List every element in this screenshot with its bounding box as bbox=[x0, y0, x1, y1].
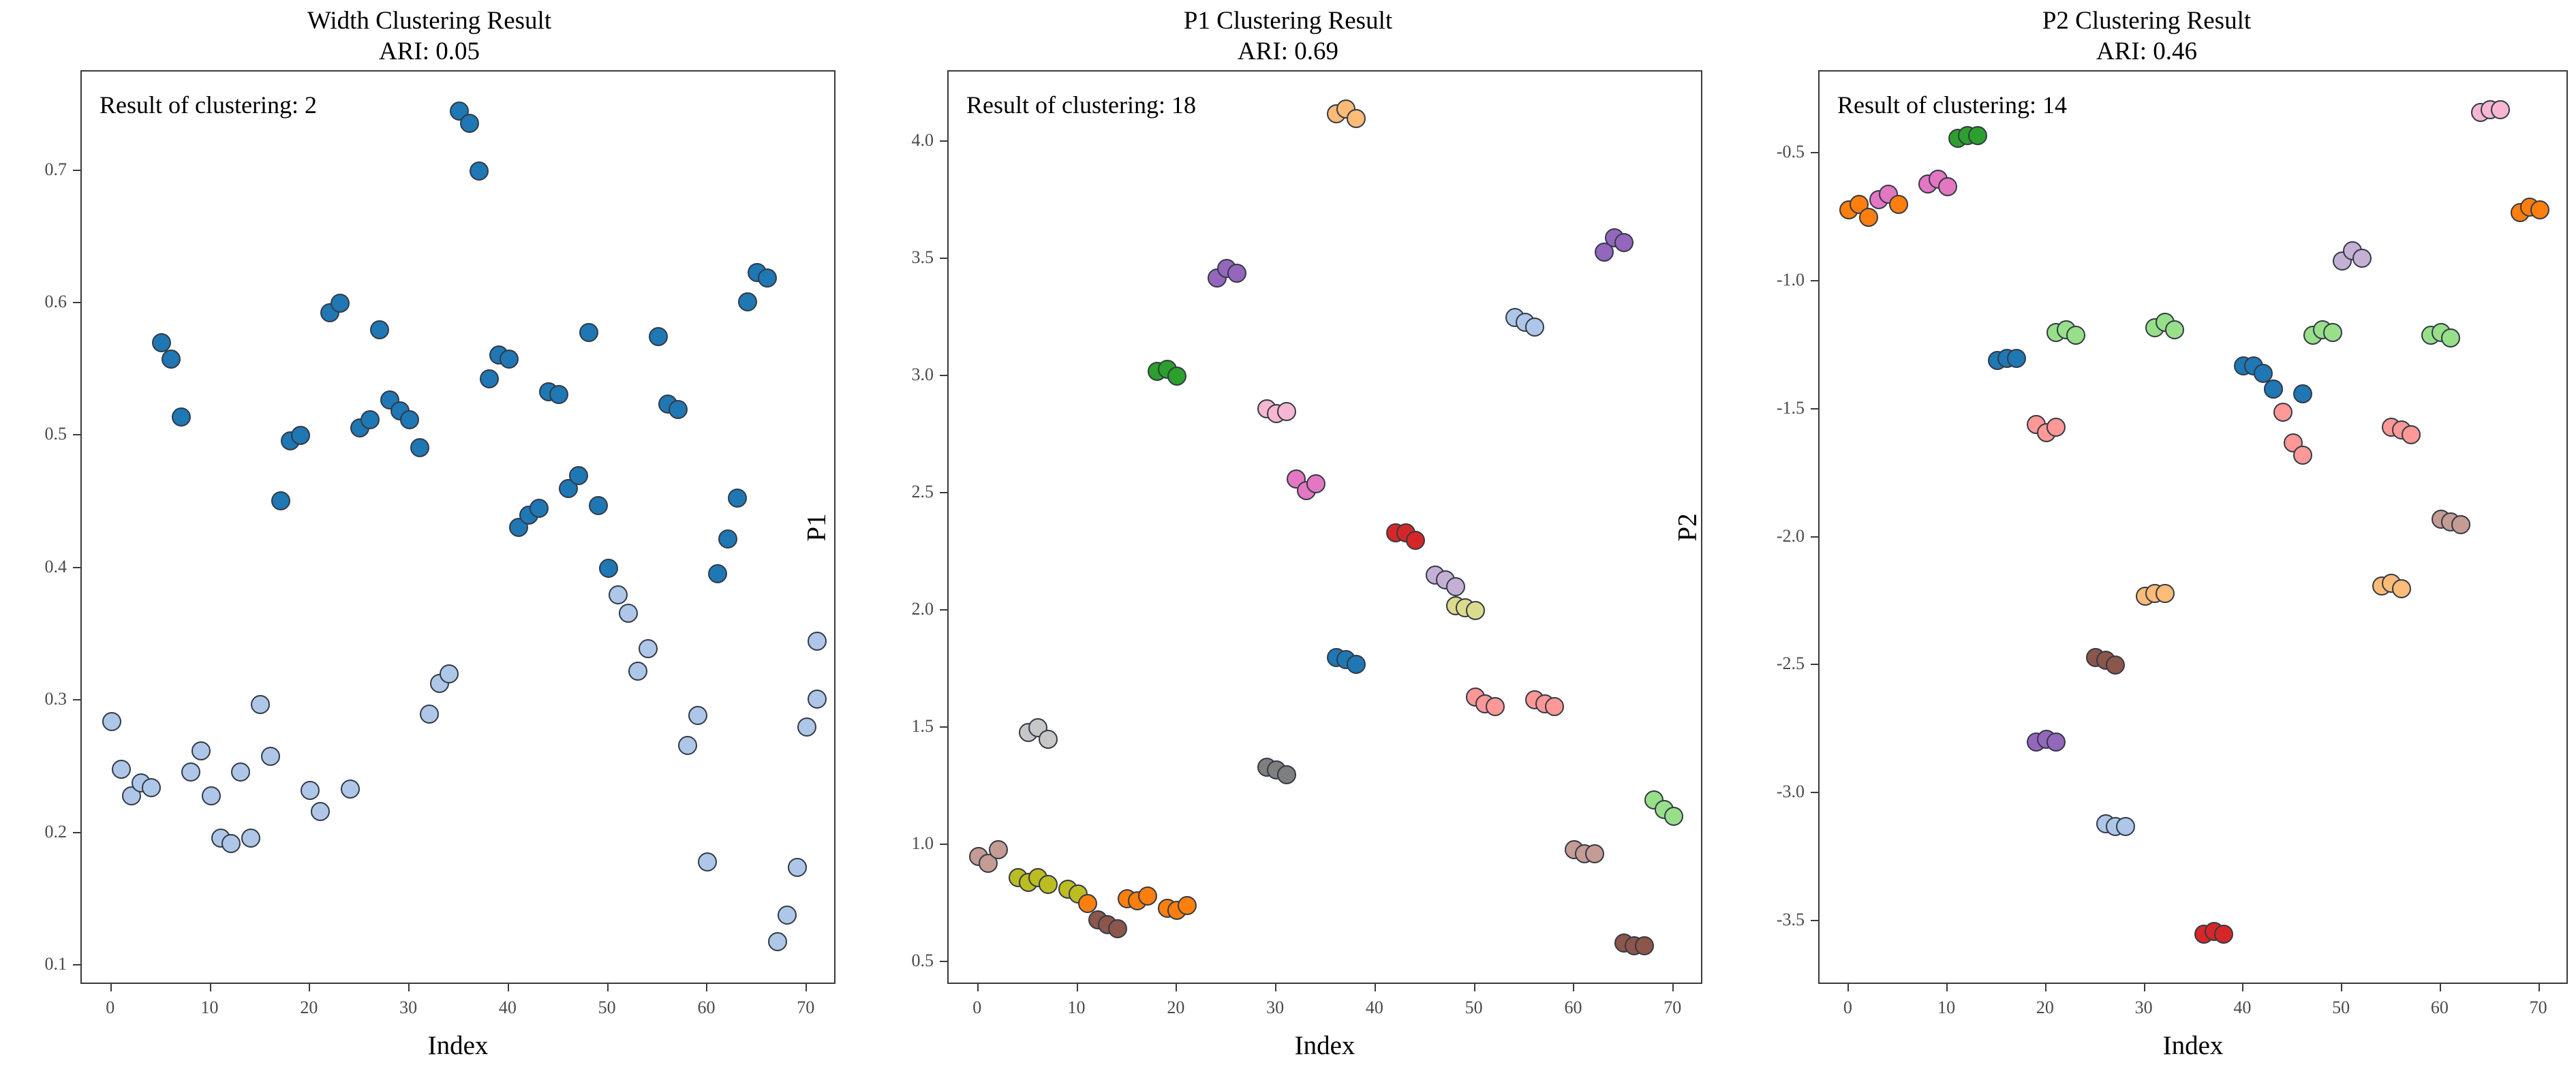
y-tick-mark bbox=[940, 375, 947, 376]
data-point bbox=[1039, 875, 1058, 894]
data-point bbox=[1108, 919, 1127, 938]
x-axis-label: Index bbox=[947, 1030, 1702, 1061]
data-point bbox=[2392, 579, 2411, 598]
plot-area: Result of clustering: 2 bbox=[80, 70, 835, 984]
x-tick-mark bbox=[1474, 984, 1475, 991]
x-tick-label: 50 bbox=[2332, 998, 2350, 1018]
data-point bbox=[579, 323, 598, 342]
x-tick-mark bbox=[806, 984, 807, 991]
y-tick-label: 0.4 bbox=[0, 557, 67, 577]
y-tick-mark bbox=[940, 844, 947, 845]
x-tick-label: 60 bbox=[697, 998, 715, 1018]
x-tick-mark bbox=[706, 984, 707, 991]
y-tick-mark bbox=[940, 609, 947, 611]
data-point bbox=[1545, 697, 1564, 716]
data-point bbox=[172, 407, 191, 427]
y-tick-label: 0.6 bbox=[0, 292, 67, 312]
data-point bbox=[628, 662, 647, 681]
panel-width: Width Clustering ResultARI: 0.05Result o… bbox=[0, 0, 859, 1065]
data-point bbox=[788, 858, 807, 877]
x-tick-mark bbox=[408, 984, 410, 991]
data-point bbox=[708, 564, 727, 583]
panel-ari-label: ARI: 0.69 bbox=[859, 36, 1717, 67]
x-tick-label: 0 bbox=[972, 998, 981, 1018]
data-point bbox=[271, 491, 290, 510]
panel-title-text: P2 Clustering Result bbox=[2042, 7, 2251, 35]
data-point bbox=[1406, 531, 1425, 550]
x-tick-mark bbox=[1176, 984, 1177, 991]
data-point bbox=[500, 350, 519, 369]
data-point bbox=[2214, 925, 2233, 944]
y-tick-label: 3.0 bbox=[855, 365, 934, 385]
data-point bbox=[2323, 323, 2342, 342]
y-tick-mark bbox=[940, 961, 947, 962]
data-point bbox=[718, 529, 737, 549]
panel-ari-label: ARI: 0.46 bbox=[1717, 36, 2576, 67]
data-point bbox=[738, 292, 757, 311]
x-tick-label: 30 bbox=[1266, 998, 1284, 1018]
data-point bbox=[619, 604, 638, 623]
data-point bbox=[698, 852, 717, 871]
data-point bbox=[231, 762, 250, 782]
data-point bbox=[2046, 732, 2066, 752]
y-tick-mark bbox=[1811, 280, 1818, 281]
data-point bbox=[460, 114, 479, 133]
data-point bbox=[112, 760, 131, 779]
data-point bbox=[1938, 177, 1957, 196]
x-tick-label: 30 bbox=[2135, 998, 2153, 1018]
x-tick-label: 60 bbox=[2431, 998, 2449, 1018]
data-point bbox=[609, 585, 628, 604]
data-point bbox=[1859, 208, 1878, 227]
data-point bbox=[768, 932, 787, 951]
data-point bbox=[142, 778, 161, 797]
data-point bbox=[1585, 844, 1604, 863]
x-tick-label: 10 bbox=[1937, 998, 1955, 1018]
data-point bbox=[2046, 418, 2066, 437]
y-tick-mark bbox=[940, 258, 947, 259]
data-point bbox=[420, 705, 439, 724]
data-point bbox=[2264, 380, 2283, 399]
x-axis-label: Index bbox=[80, 1030, 835, 1061]
y-tick-label: 0.3 bbox=[0, 689, 67, 709]
x-tick-label: 20 bbox=[1167, 998, 1184, 1018]
x-tick-mark bbox=[2144, 984, 2145, 991]
data-point bbox=[241, 829, 260, 848]
y-tick-mark bbox=[73, 832, 80, 833]
data-point bbox=[2491, 100, 2510, 119]
cluster-count-annotation: Result of clustering: 2 bbox=[99, 91, 317, 119]
data-point bbox=[410, 438, 429, 457]
y-axis-label: P2 bbox=[1672, 513, 1703, 541]
data-point bbox=[1227, 264, 1246, 283]
x-tick-mark bbox=[2242, 984, 2243, 991]
y-tick-label: 2.0 bbox=[855, 599, 934, 619]
data-point bbox=[2293, 384, 2312, 403]
x-tick-mark bbox=[1375, 984, 1376, 991]
y-tick-mark bbox=[1811, 920, 1818, 921]
data-point bbox=[162, 350, 181, 369]
data-point bbox=[2116, 817, 2135, 836]
clustering-results-figure: Width Clustering ResultARI: 0.05Result o… bbox=[0, 0, 2576, 1065]
y-tick-label: -2.5 bbox=[1726, 653, 1805, 674]
data-point bbox=[1968, 126, 1987, 145]
data-point bbox=[2451, 515, 2470, 534]
y-tick-label: 1.5 bbox=[855, 716, 934, 737]
data-point bbox=[251, 695, 270, 714]
x-tick-mark bbox=[2341, 984, 2342, 991]
y-tick-label: 0.5 bbox=[855, 951, 934, 971]
data-point bbox=[589, 496, 608, 515]
y-tick-mark bbox=[73, 699, 80, 700]
data-point bbox=[2165, 320, 2184, 339]
data-point bbox=[569, 466, 588, 485]
x-tick-label: 20 bbox=[2036, 998, 2054, 1018]
y-tick-label: 0.7 bbox=[0, 159, 67, 180]
x-tick-label: 50 bbox=[1465, 998, 1483, 1018]
data-point bbox=[1466, 601, 1485, 620]
y-tick-mark bbox=[73, 302, 80, 303]
y-tick-label: 1.0 bbox=[855, 833, 934, 854]
panel-p1: P1 Clustering ResultARI: 0.69Result of c… bbox=[859, 0, 1717, 1065]
y-tick-label: 0.2 bbox=[0, 822, 67, 842]
data-point bbox=[480, 369, 499, 388]
x-tick-label: 60 bbox=[1564, 998, 1582, 1018]
cluster-count-annotation: Result of clustering: 18 bbox=[966, 91, 1196, 119]
data-point bbox=[1178, 896, 1197, 915]
data-point bbox=[202, 786, 221, 805]
data-point bbox=[291, 426, 310, 445]
data-point bbox=[1635, 936, 1654, 955]
x-tick-label: 0 bbox=[1843, 998, 1852, 1018]
data-point bbox=[1277, 765, 1296, 784]
data-point bbox=[2530, 200, 2549, 219]
y-tick-mark bbox=[1811, 792, 1818, 793]
panel-title-text: Width Clustering Result bbox=[307, 7, 551, 35]
x-tick-mark bbox=[2539, 984, 2540, 991]
panel-title: P1 Clustering ResultARI: 0.69 bbox=[859, 5, 1717, 67]
data-point bbox=[1446, 577, 1465, 596]
panel-title-text: P1 Clustering Result bbox=[1184, 7, 1392, 35]
x-tick-label: 70 bbox=[1663, 998, 1681, 1018]
y-tick-label: 3.5 bbox=[855, 247, 934, 268]
data-point bbox=[2402, 425, 2421, 444]
x-tick-mark bbox=[210, 984, 211, 991]
data-point bbox=[1889, 195, 1908, 214]
data-point bbox=[261, 747, 280, 766]
data-point bbox=[301, 781, 320, 800]
data-point bbox=[102, 712, 121, 731]
data-point bbox=[1664, 807, 1683, 826]
data-point bbox=[400, 410, 419, 429]
x-tick-mark bbox=[110, 984, 112, 991]
y-tick-label: -2.0 bbox=[1726, 526, 1805, 546]
data-point bbox=[989, 840, 1008, 859]
data-point bbox=[1486, 697, 1505, 716]
data-point bbox=[639, 639, 658, 658]
plot-area: Result of clustering: 14 bbox=[1818, 70, 2568, 984]
data-point bbox=[669, 400, 688, 419]
x-tick-mark bbox=[1672, 984, 1674, 991]
data-point bbox=[808, 632, 827, 651]
data-point bbox=[1277, 402, 1296, 421]
y-tick-label: 4.0 bbox=[855, 130, 934, 151]
data-point bbox=[1167, 367, 1186, 386]
data-point bbox=[649, 327, 668, 346]
data-point bbox=[2007, 349, 2026, 368]
x-tick-label: 40 bbox=[2233, 998, 2251, 1018]
y-tick-label: -3.5 bbox=[1726, 910, 1805, 930]
y-tick-mark bbox=[73, 964, 80, 966]
x-tick-label: 40 bbox=[1366, 998, 1383, 1018]
data-point bbox=[797, 717, 816, 737]
data-point bbox=[370, 320, 389, 339]
x-tick-label: 0 bbox=[106, 998, 114, 1018]
data-point bbox=[2293, 446, 2312, 465]
data-point bbox=[331, 294, 350, 313]
data-point bbox=[1614, 233, 1634, 252]
data-point bbox=[1347, 109, 1366, 128]
y-tick-label: -3.0 bbox=[1726, 782, 1805, 802]
y-tick-mark bbox=[1811, 664, 1818, 665]
x-tick-mark bbox=[508, 984, 509, 991]
y-tick-label: 2.5 bbox=[855, 482, 934, 502]
data-point bbox=[778, 906, 797, 925]
panel-p2: P2 Clustering ResultARI: 0.46Result of c… bbox=[1717, 0, 2576, 1065]
y-tick-mark bbox=[1811, 536, 1818, 538]
x-tick-mark bbox=[1946, 984, 1948, 991]
panel-title: P2 Clustering ResultARI: 0.46 bbox=[1717, 5, 2576, 67]
data-point bbox=[808, 690, 827, 709]
x-tick-label: 10 bbox=[201, 998, 219, 1018]
x-tick-mark bbox=[607, 984, 609, 991]
panel-title: Width Clustering ResultARI: 0.05 bbox=[0, 5, 859, 67]
data-point bbox=[311, 802, 330, 821]
data-point bbox=[1525, 318, 1544, 337]
data-point bbox=[758, 268, 777, 288]
x-tick-label: 20 bbox=[300, 998, 318, 1018]
data-point bbox=[361, 410, 380, 429]
x-axis-label: Index bbox=[1818, 1030, 2568, 1061]
cluster-count-annotation: Result of clustering: 14 bbox=[1837, 91, 2067, 119]
x-tick-label: 70 bbox=[797, 998, 814, 1018]
data-point bbox=[2352, 249, 2372, 268]
data-point bbox=[2273, 403, 2293, 422]
x-tick-label: 50 bbox=[598, 998, 616, 1018]
x-tick-mark bbox=[2440, 984, 2441, 991]
x-tick-label: 40 bbox=[499, 998, 517, 1018]
data-point bbox=[2441, 328, 2460, 348]
y-axis-label: P1 bbox=[801, 513, 832, 541]
x-tick-label: 10 bbox=[1068, 998, 1086, 1018]
data-point bbox=[1306, 474, 1325, 493]
x-tick-mark bbox=[1847, 984, 1849, 991]
data-point bbox=[728, 489, 747, 508]
x-tick-label: 30 bbox=[399, 998, 417, 1018]
data-point bbox=[341, 780, 360, 799]
data-point bbox=[530, 499, 549, 518]
y-tick-mark bbox=[940, 140, 947, 142]
data-point bbox=[191, 741, 211, 760]
x-tick-mark bbox=[1275, 984, 1276, 991]
y-tick-mark bbox=[940, 726, 947, 728]
data-point bbox=[1039, 730, 1058, 749]
data-point bbox=[221, 834, 241, 853]
y-tick-label: 0.1 bbox=[0, 954, 67, 974]
y-tick-mark bbox=[73, 170, 80, 171]
data-point bbox=[2106, 655, 2125, 675]
y-tick-mark bbox=[940, 492, 947, 493]
data-point bbox=[1138, 886, 1157, 906]
x-tick-mark bbox=[2045, 984, 2046, 991]
data-point bbox=[440, 664, 459, 683]
data-point bbox=[688, 706, 707, 725]
data-point bbox=[470, 161, 489, 181]
y-tick-mark bbox=[1811, 152, 1818, 153]
x-tick-label: 70 bbox=[2530, 998, 2547, 1018]
data-point bbox=[549, 385, 568, 404]
x-tick-mark bbox=[1573, 984, 1574, 991]
panel-ari-label: ARI: 0.05 bbox=[0, 36, 859, 67]
x-tick-mark bbox=[977, 984, 979, 991]
data-point bbox=[678, 736, 697, 755]
plot-area: Result of clustering: 18 bbox=[947, 70, 1702, 984]
data-point bbox=[1347, 655, 1366, 674]
data-point bbox=[181, 762, 200, 782]
y-tick-label: -0.5 bbox=[1726, 142, 1805, 162]
y-tick-label: -1.5 bbox=[1726, 398, 1805, 418]
y-tick-mark bbox=[73, 434, 80, 435]
data-point bbox=[2066, 326, 2085, 345]
x-tick-mark bbox=[309, 984, 310, 991]
y-tick-label: 0.5 bbox=[0, 424, 67, 444]
y-tick-label: -1.0 bbox=[1726, 270, 1805, 290]
data-point bbox=[599, 559, 618, 578]
y-tick-mark bbox=[1811, 408, 1818, 410]
x-tick-mark bbox=[1077, 984, 1078, 991]
data-point bbox=[2156, 584, 2175, 603]
y-tick-mark bbox=[73, 567, 80, 568]
